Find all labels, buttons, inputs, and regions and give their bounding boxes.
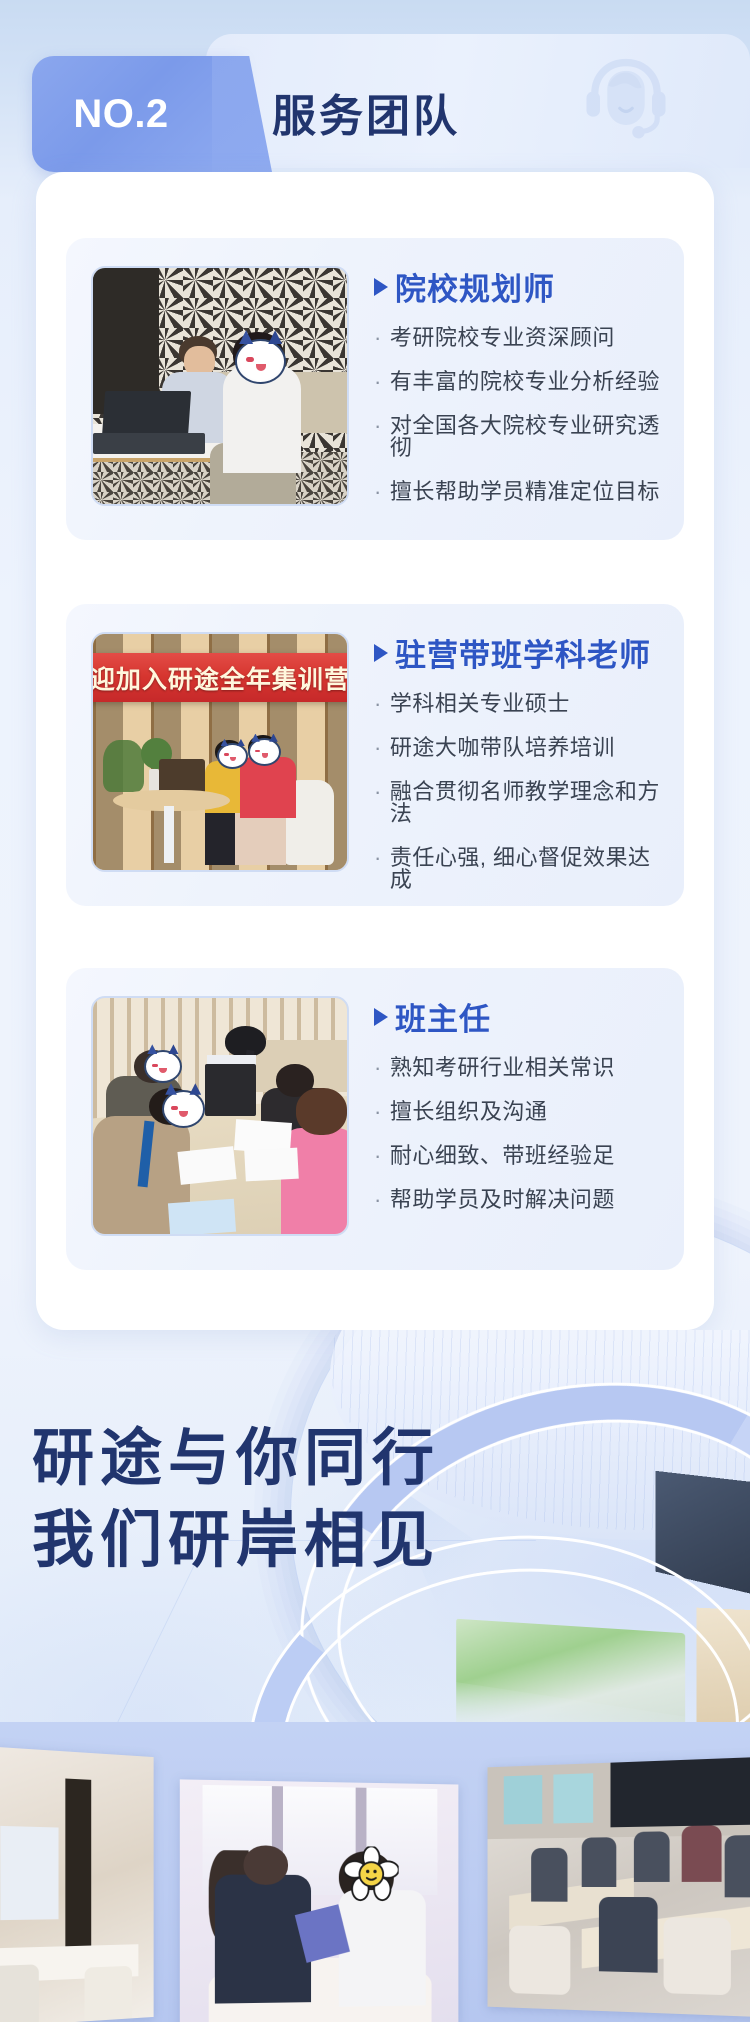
role-title-text: 班主任	[395, 994, 491, 1039]
list-item-text: 学科相关专业硕士	[390, 693, 570, 715]
team-cards-container: 院校规划师 ·考研院校专业资深顾问 ·有丰富的院校专业分析经验 ·对全国各大院校…	[36, 172, 714, 1330]
camp-banner-text: 迎加入研途全年集训营!	[91, 660, 349, 696]
list-item: ·熟知考研行业相关常识	[374, 1057, 664, 1079]
list-item: ·责任心强, 细心督促效果达成	[374, 847, 664, 891]
bullet-dot-icon: ·	[374, 781, 382, 825]
role-title: 院校规划师	[374, 264, 664, 309]
bullet-dot-icon: ·	[374, 1189, 382, 1211]
list-item: ·擅长组织及沟通	[374, 1101, 664, 1123]
role-title-text: 驻营带班学科老师	[395, 630, 651, 675]
list-item-text: 对全国各大院校专业研究透彻	[390, 415, 664, 459]
gallery-photo-dormitory	[0, 1747, 154, 2022]
list-item: ·研途大咖带队培养培训	[374, 737, 664, 759]
bullet-dot-icon: ·	[374, 1101, 382, 1123]
list-item: ·擅长帮助学员精准定位目标	[374, 481, 664, 503]
list-item: ·对全国各大院校专业研究透彻	[374, 415, 664, 459]
list-item: ·耐心细致、带班经验足	[374, 1145, 664, 1167]
photo-consultation-cafe	[91, 266, 349, 506]
bullet-dot-icon: ·	[374, 737, 382, 759]
face-sticker-icon	[162, 1090, 205, 1128]
photo-training-camp: 迎加入研途全年集训营!	[91, 632, 349, 872]
face-sticker-icon	[235, 339, 286, 384]
headset-operator-icon	[574, 48, 678, 152]
role-card-head-teacher[interactable]: 班主任 ·熟知考研行业相关常识 ·擅长组织及沟通 ·耐心细致、带班经验足 ·帮助…	[66, 968, 684, 1270]
slogan-line-1: 研途与你同行	[32, 1418, 440, 1500]
face-sticker-icon	[217, 743, 247, 769]
role-card-planner[interactable]: 院校规划师 ·考研院校专业资深顾问 ·有丰富的院校专业分析经验 ·对全国各大院校…	[66, 238, 684, 540]
slogan-line-2: 我们研岸相见	[32, 1500, 440, 1582]
bullet-dot-icon: ·	[374, 1145, 382, 1167]
list-item-text: 熟知考研行业相关常识	[390, 1057, 615, 1079]
bullet-dot-icon: ·	[374, 371, 382, 393]
list-item-text: 融合贯彻名师教学理念和方法	[390, 781, 664, 825]
list-item: ·学科相关专业硕士	[374, 693, 664, 715]
list-item-text: 有丰富的院校专业分析经验	[390, 371, 660, 393]
section-number-label: NO.2	[32, 56, 210, 172]
flower-sticker-icon	[344, 1846, 399, 1902]
role-title-text: 院校规划师	[395, 264, 555, 309]
camp-banner: 迎加入研途全年集训营!	[91, 653, 349, 703]
triangle-right-icon	[374, 1008, 388, 1026]
list-item: ·考研院校专业资深顾问	[374, 327, 664, 349]
footer-slogan: 研途与你同行 我们研岸相见	[32, 1418, 440, 1582]
list-item: ·帮助学员及时解决问题	[374, 1189, 664, 1211]
gallery-photo-classroom	[488, 1756, 750, 2018]
list-item-text: 擅长组织及沟通	[390, 1101, 548, 1123]
list-item: ·有丰富的院校专业分析经验	[374, 371, 664, 393]
role-feature-list: ·学科相关专业硕士 ·研途大咖带队培养培训 ·融合贯彻名师教学理念和方法 ·责任…	[374, 693, 664, 891]
list-item-text: 责任心强, 细心督促效果达成	[390, 847, 664, 891]
bullet-dot-icon: ·	[374, 415, 382, 459]
list-item-text: 帮助学员及时解决问题	[390, 1189, 615, 1211]
role-feature-list: ·熟知考研行业相关常识 ·擅长组织及沟通 ·耐心细致、带班经验足 ·帮助学员及时…	[374, 1057, 664, 1211]
role-feature-list: ·考研院校专业资深顾问 ·有丰富的院校专业分析经验 ·对全国各大院校专业研究透彻…	[374, 327, 664, 503]
triangle-right-icon	[374, 644, 388, 662]
list-item-text: 研途大咖带队培养培训	[390, 737, 615, 759]
page-title: 服务团队	[272, 80, 460, 144]
bullet-dot-icon: ·	[374, 847, 382, 891]
photo-study-desk	[91, 996, 349, 1236]
bullet-dot-icon: ·	[374, 693, 382, 715]
list-item-text: 考研院校专业资深顾问	[390, 327, 615, 349]
list-item-text: 耐心细致、带班经验足	[390, 1145, 615, 1167]
role-title: 班主任	[374, 994, 664, 1039]
role-card-camp-teacher[interactable]: 迎加入研途全年集训营! 驻营带班学科老师 ·学科相关专业硕士 ·研途大咖带队培养…	[66, 604, 684, 906]
section-number-badge: NO.2	[32, 56, 242, 172]
bullet-dot-icon: ·	[374, 327, 382, 349]
gallery-photo-tutoring	[180, 1779, 459, 2022]
list-item: ·融合贯彻名师教学理念和方法	[374, 781, 664, 825]
list-item-text: 擅长帮助学员精准定位目标	[390, 481, 660, 503]
bullet-dot-icon: ·	[374, 481, 382, 503]
section-header: NO.2 服务团队	[0, 34, 750, 172]
role-title: 驻营带班学科老师	[374, 630, 664, 675]
face-sticker-icon	[248, 738, 281, 766]
bullet-dot-icon: ·	[374, 1057, 382, 1079]
face-sticker-icon	[144, 1050, 182, 1083]
triangle-right-icon	[374, 278, 388, 296]
footer-photo-strip	[0, 1722, 750, 2022]
